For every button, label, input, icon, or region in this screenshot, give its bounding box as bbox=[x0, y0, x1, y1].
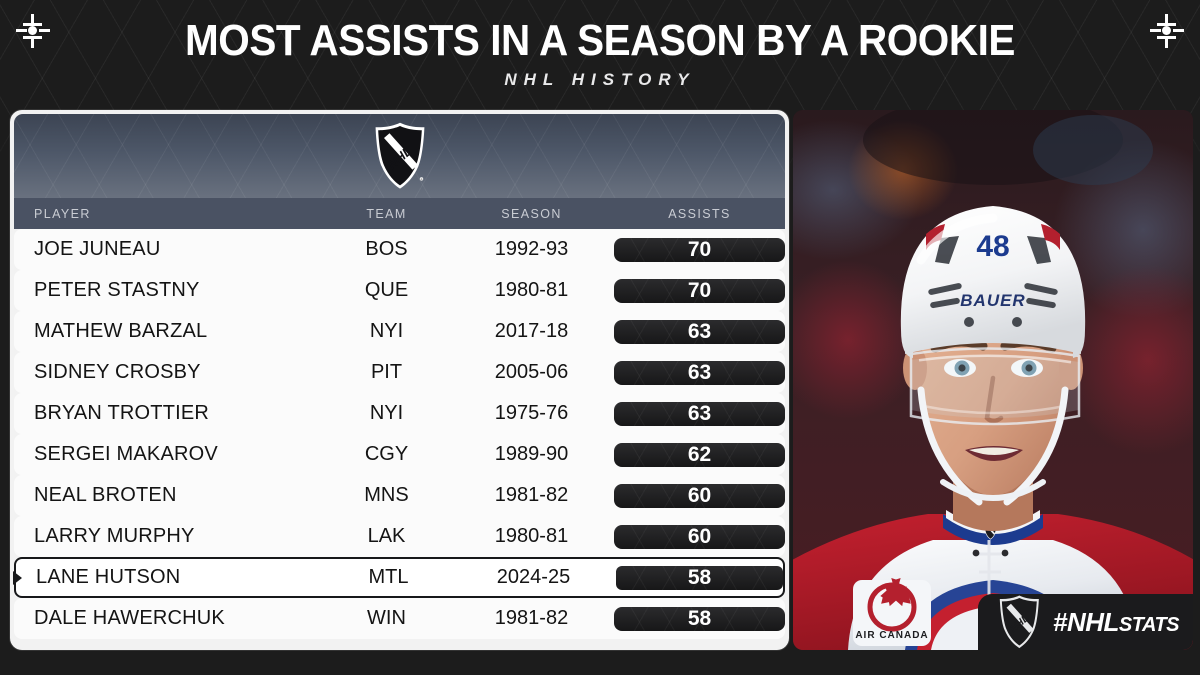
assists-badge: 63 bbox=[614, 361, 785, 385]
cell-player: LANE HUTSON bbox=[16, 566, 326, 589]
cell-player: BRYAN TROTTIER bbox=[14, 402, 324, 425]
column-header-assists: ASSISTS bbox=[614, 207, 785, 221]
assists-badge: 70 bbox=[614, 279, 785, 303]
cell-season: 1981-82 bbox=[449, 607, 614, 630]
nhlstats-s: S bbox=[1119, 614, 1132, 636]
row-pointer-icon bbox=[13, 571, 22, 585]
cell-player: PETER STASTNY bbox=[14, 279, 324, 302]
cell-assists-wrap: 58 bbox=[614, 607, 785, 631]
helmet-brand: BAUER bbox=[960, 291, 1025, 310]
svg-text:R: R bbox=[420, 177, 422, 181]
cell-team: LAK bbox=[324, 525, 449, 548]
cell-team: MNS bbox=[324, 484, 449, 507]
cell-team: NYI bbox=[324, 320, 449, 343]
cell-season: 1980-81 bbox=[449, 525, 614, 548]
assists-badge: 60 bbox=[614, 484, 785, 508]
cell-player: DALE HAWERCHUK bbox=[14, 607, 324, 630]
cell-season: 1975-76 bbox=[449, 402, 614, 425]
column-header-season: SEASON bbox=[449, 207, 614, 221]
assists-badge: 58 bbox=[614, 607, 785, 631]
assists-badge: 62 bbox=[614, 443, 785, 467]
nhlstats-wordmark: #NHLSTATS bbox=[1053, 607, 1179, 638]
svg-text:AIR CANADA: AIR CANADA bbox=[855, 630, 928, 641]
column-header-team: TEAM bbox=[324, 207, 449, 221]
cell-assists-wrap: 63 bbox=[614, 320, 785, 344]
registration-crosshair-icon-left bbox=[16, 14, 50, 48]
assists-badge: 63 bbox=[614, 402, 785, 426]
helmet-number: 48 bbox=[976, 230, 1009, 263]
table-row[interactable]: BRYAN TROTTIERNYI1975-7663 bbox=[14, 393, 785, 434]
cell-team: WIN bbox=[324, 607, 449, 630]
cell-assists-wrap: 70 bbox=[614, 238, 785, 262]
page-title: MOST ASSISTS IN A SEASON BY A ROOKIE bbox=[48, 16, 1152, 66]
table-row-highlighted[interactable]: LANE HUTSONMTL2024-2558 bbox=[14, 557, 785, 598]
player-photo: AIR CANADA bbox=[793, 110, 1193, 650]
cell-season: 2024-25 bbox=[451, 566, 616, 589]
table-row[interactable]: JOE JUNEAUBOS1992-9370 bbox=[14, 229, 785, 270]
table-row[interactable]: PETER STASTNYQUE1980-8170 bbox=[14, 270, 785, 311]
cell-team: MTL bbox=[326, 566, 451, 589]
cell-team: NYI bbox=[324, 402, 449, 425]
cell-team: CGY bbox=[324, 443, 449, 466]
cell-player: SERGEI MAKAROV bbox=[14, 443, 324, 466]
cell-season: 1992-93 bbox=[449, 238, 614, 261]
page-subtitle: NHL HISTORY bbox=[0, 70, 1200, 90]
cell-player: LARRY MURPHY bbox=[14, 525, 324, 548]
stats-table-card: NHL R PLAYER TEAM SEASON ASSISTS JOE JUN… bbox=[10, 110, 789, 650]
cell-team: BOS bbox=[324, 238, 449, 261]
cell-season: 1980-81 bbox=[449, 279, 614, 302]
table-row[interactable]: MATHEW BARZALNYI2017-1863 bbox=[14, 311, 785, 352]
cell-assists-wrap: 60 bbox=[614, 484, 785, 508]
table-column-header: PLAYER TEAM SEASON ASSISTS bbox=[14, 198, 785, 229]
cell-team: QUE bbox=[324, 279, 449, 302]
nhlstats-rest: TATS bbox=[1132, 614, 1179, 636]
cell-season: 1989-90 bbox=[449, 443, 614, 466]
cell-player: MATHEW BARZAL bbox=[14, 320, 324, 343]
nhl-shield-icon-watermark: NHL bbox=[996, 594, 1043, 650]
assists-badge: 70 bbox=[614, 238, 785, 262]
assists-badge: 63 bbox=[614, 320, 785, 344]
table-row[interactable]: SIDNEY CROSBYPIT2005-0663 bbox=[14, 352, 785, 393]
cell-player: NEAL BROTEN bbox=[14, 484, 324, 507]
cell-season: 1981-82 bbox=[449, 484, 614, 507]
cell-assists-wrap: 63 bbox=[614, 402, 785, 426]
bottom-strip bbox=[0, 663, 1200, 675]
column-header-player: PLAYER bbox=[14, 207, 324, 221]
air-canada-patch: AIR CANADA bbox=[853, 573, 931, 646]
cell-season: 2005-06 bbox=[449, 361, 614, 384]
assists-badge: 60 bbox=[614, 525, 785, 549]
cell-assists-wrap: 60 bbox=[614, 525, 785, 549]
registration-crosshair-icon-right bbox=[1150, 14, 1184, 48]
table-body: JOE JUNEAUBOS1992-9370PETER STASTNYQUE19… bbox=[14, 229, 785, 639]
table-row[interactable]: DALE HAWERCHUKWIN1981-8258 bbox=[14, 598, 785, 639]
cell-assists-wrap: 70 bbox=[614, 279, 785, 303]
cell-team: PIT bbox=[324, 361, 449, 384]
player-photo-illustration: AIR CANADA bbox=[793, 110, 1193, 650]
nhlstats-hash: #NHL bbox=[1053, 607, 1119, 637]
cell-player: JOE JUNEAU bbox=[14, 238, 324, 261]
table-row[interactable]: NEAL BROTENMNS1981-8260 bbox=[14, 475, 785, 516]
cell-assists-wrap: 63 bbox=[614, 361, 785, 385]
nhl-shield-icon: NHL R bbox=[371, 121, 429, 191]
assists-badge: 58 bbox=[616, 566, 783, 590]
cell-season: 2017-18 bbox=[449, 320, 614, 343]
table-row[interactable]: SERGEI MAKAROVCGY1989-9062 bbox=[14, 434, 785, 475]
graphic-canvas: MOST ASSISTS IN A SEASON BY A ROOKIE NHL… bbox=[0, 0, 1200, 675]
nhlstats-watermark: NHL #NHLSTATS bbox=[978, 594, 1193, 650]
table-row[interactable]: LARRY MURPHYLAK1980-8160 bbox=[14, 516, 785, 557]
table-banner: NHL R bbox=[14, 114, 785, 198]
cell-player: SIDNEY CROSBY bbox=[14, 361, 324, 384]
cell-assists-wrap: 58 bbox=[616, 566, 783, 590]
cell-assists-wrap: 62 bbox=[614, 443, 785, 467]
